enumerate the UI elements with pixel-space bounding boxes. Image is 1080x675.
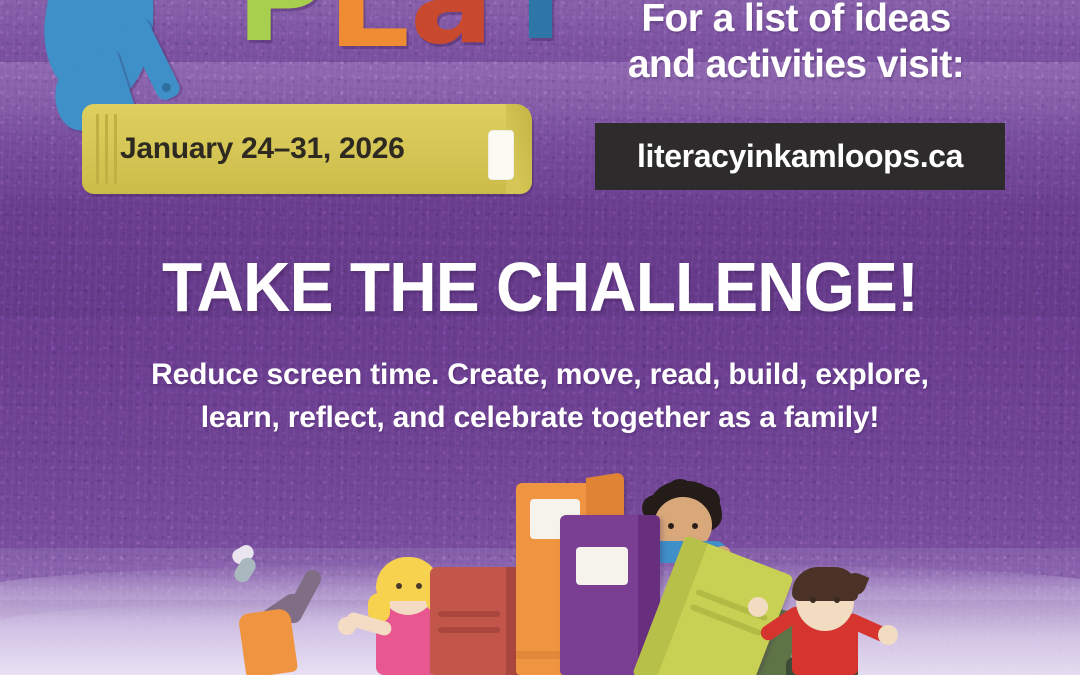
illustration-scene [0,415,1080,675]
play-wordmark: P L a Y [236,0,583,60]
play-letter-l: L [327,0,408,66]
play-letter-y: Y [496,0,584,58]
girl-hand [338,617,356,635]
page-title: TAKE THE CHALLENGE! [32,252,1047,322]
boy-eye [834,597,840,603]
girl-eye [396,583,402,589]
date-banner: January 24–31, 2026 [82,104,532,194]
book-white-label [576,547,628,585]
red-book [430,567,526,675]
banner-white-label [488,130,514,180]
boy-hand [878,625,898,645]
play-letter-p: P [236,0,325,60]
book-band [438,627,500,633]
visit-line-1: For a list of ideas [586,0,1006,42]
boy-hand [748,597,768,617]
visit-block: For a list of ideas and activities visit… [586,0,1006,88]
girl-eye [416,583,422,589]
visit-line-2: and activities visit: [586,42,1006,88]
child-torso [238,608,298,675]
boy-eye [810,597,816,603]
cartwheeling-child [232,547,372,675]
play-letter-a: a [410,0,492,62]
book-band [438,611,500,617]
literacy-week-poster: P L a Y January 24–31, 2026 For a list o… [0,0,1080,675]
body-line-1: Reduce screen time. Create, move, read, … [0,354,1080,397]
website-url-box[interactable]: literacyinkamloops.ca [595,123,1005,190]
child-eye [692,523,698,529]
date-text: January 24–31, 2026 [120,104,405,194]
red-shirt-boy [752,553,900,675]
website-url-text: literacyinkamloops.ca [637,138,963,175]
child-eye [668,523,674,529]
